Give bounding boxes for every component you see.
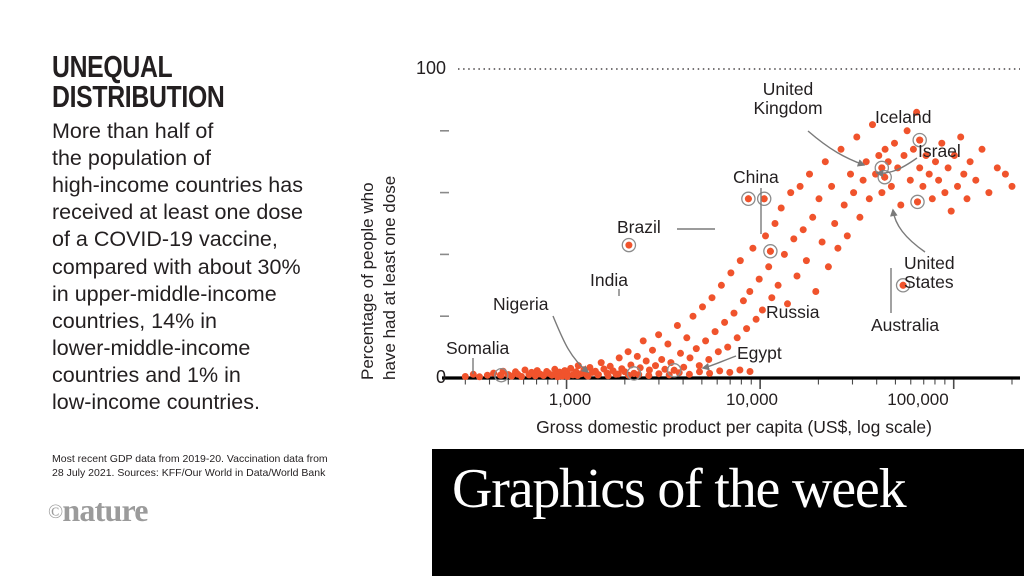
data-point bbox=[605, 372, 612, 379]
highlighted-point bbox=[881, 174, 888, 181]
data-point bbox=[753, 316, 760, 323]
data-point bbox=[716, 367, 723, 374]
banner-title: Graphics of the week bbox=[452, 457, 905, 521]
data-point bbox=[929, 195, 936, 202]
data-point bbox=[484, 372, 491, 379]
data-point bbox=[926, 171, 933, 178]
nature-wordmark: nature bbox=[62, 492, 147, 528]
data-point bbox=[655, 331, 662, 338]
y-tick-label-100: 100 bbox=[390, 58, 446, 79]
annotation-russia: Russia bbox=[766, 303, 856, 322]
highlighted-point bbox=[498, 372, 505, 379]
data-point bbox=[844, 232, 851, 239]
data-point bbox=[834, 245, 841, 252]
data-point bbox=[762, 232, 769, 239]
data-point bbox=[658, 356, 665, 363]
annotation-iceland: Iceland bbox=[875, 108, 975, 127]
data-point bbox=[803, 257, 810, 264]
data-point bbox=[812, 288, 819, 295]
data-point bbox=[726, 369, 733, 376]
y-axis-label-line2: have had at least one dose bbox=[380, 176, 400, 380]
highlighted-point bbox=[767, 248, 774, 255]
infographic-root: Unequal distribution More than half of t… bbox=[0, 0, 1024, 576]
data-point bbox=[901, 152, 908, 159]
x-axis-label: Gross domestic product per capita (US$, … bbox=[444, 417, 1024, 438]
annotation-israel: Israel bbox=[918, 142, 1018, 161]
data-point bbox=[625, 348, 632, 355]
source-note: Most recent GDP data from 2019-20. Vacci… bbox=[52, 453, 372, 481]
y-axis-label-line1: Percentage of people who bbox=[358, 182, 378, 380]
data-point bbox=[674, 322, 681, 329]
data-point bbox=[825, 263, 832, 270]
data-point bbox=[954, 183, 961, 190]
data-point bbox=[904, 127, 911, 134]
data-point bbox=[598, 359, 605, 366]
data-point bbox=[919, 183, 926, 190]
data-point bbox=[649, 347, 656, 354]
data-point bbox=[994, 164, 1001, 171]
data-point bbox=[778, 205, 785, 212]
annotation-brazil: Brazil bbox=[617, 218, 697, 237]
data-point bbox=[888, 183, 895, 190]
data-point bbox=[916, 164, 923, 171]
data-point bbox=[476, 373, 483, 380]
data-point bbox=[866, 195, 873, 202]
data-point bbox=[756, 276, 763, 283]
data-point bbox=[787, 189, 794, 196]
data-point bbox=[696, 368, 703, 375]
data-point bbox=[615, 371, 622, 378]
data-point bbox=[885, 158, 892, 165]
data-point bbox=[800, 226, 807, 233]
data-point bbox=[743, 325, 750, 332]
data-point bbox=[878, 189, 885, 196]
data-point bbox=[693, 345, 700, 352]
data-point bbox=[781, 251, 788, 258]
standfirst-text: More than half of the population of high… bbox=[52, 118, 392, 416]
data-point bbox=[875, 152, 882, 159]
data-point bbox=[574, 372, 581, 379]
highlighted-point bbox=[761, 195, 768, 202]
data-point bbox=[554, 373, 561, 380]
data-point bbox=[462, 373, 469, 380]
data-point bbox=[736, 367, 743, 374]
data-point bbox=[664, 341, 671, 348]
data-point bbox=[640, 337, 647, 344]
data-point bbox=[709, 294, 716, 301]
data-point bbox=[809, 214, 816, 221]
data-point bbox=[897, 202, 904, 209]
data-point bbox=[724, 344, 731, 351]
annotation-china: China bbox=[733, 168, 823, 187]
data-point bbox=[891, 140, 898, 147]
data-point bbox=[790, 235, 797, 242]
data-point bbox=[721, 319, 728, 326]
annotation-india: India bbox=[590, 271, 660, 290]
data-point bbox=[816, 195, 823, 202]
leader-line bbox=[893, 210, 925, 252]
data-point bbox=[749, 245, 756, 252]
copyright-symbol: © bbox=[48, 501, 62, 523]
highlighted-point bbox=[625, 242, 632, 249]
data-point bbox=[794, 273, 801, 280]
data-point bbox=[768, 294, 775, 301]
data-point bbox=[690, 313, 697, 320]
data-point bbox=[941, 189, 948, 196]
x-tick-label-10000: 10,000 bbox=[688, 390, 816, 410]
data-point bbox=[841, 202, 848, 209]
annotation-united-kingdom: United Kingdom bbox=[733, 80, 843, 117]
data-point bbox=[585, 373, 592, 380]
data-point bbox=[718, 282, 725, 289]
annotation-nigeria: Nigeria bbox=[493, 295, 583, 314]
data-point bbox=[643, 358, 650, 365]
y-tick-label-0: 0 bbox=[390, 367, 446, 388]
data-point bbox=[686, 371, 693, 378]
data-point bbox=[731, 310, 738, 317]
data-point bbox=[828, 183, 835, 190]
data-point bbox=[935, 177, 942, 184]
data-point bbox=[957, 134, 964, 141]
data-point bbox=[705, 356, 712, 363]
data-point bbox=[1002, 171, 1009, 178]
data-point bbox=[882, 146, 889, 153]
x-tick-label-1000: 1,000 bbox=[510, 390, 630, 410]
data-point bbox=[759, 307, 766, 314]
data-point bbox=[856, 214, 863, 221]
data-point bbox=[683, 334, 690, 341]
data-point bbox=[838, 146, 845, 153]
graphics-of-the-week-banner: Graphics of the week bbox=[432, 449, 1024, 576]
data-point bbox=[696, 362, 703, 369]
data-point bbox=[655, 370, 662, 377]
data-point bbox=[737, 257, 744, 264]
highlighted-point bbox=[914, 198, 921, 205]
data-point bbox=[702, 337, 709, 344]
data-point bbox=[727, 269, 734, 276]
highlighted-point bbox=[671, 367, 678, 374]
left-text-panel: Unequal distribution More than half of t… bbox=[52, 52, 392, 416]
data-point bbox=[850, 189, 857, 196]
data-point bbox=[847, 171, 854, 178]
data-point bbox=[518, 373, 525, 380]
data-point bbox=[564, 373, 571, 380]
annotation-egypt: Egypt bbox=[737, 344, 817, 363]
data-point bbox=[945, 164, 952, 171]
data-point bbox=[706, 370, 713, 377]
scatter-plot-canvas bbox=[404, 40, 1024, 440]
annotation-somalia: Somalia bbox=[446, 339, 556, 358]
data-point bbox=[964, 195, 971, 202]
highlighted-point bbox=[631, 370, 638, 377]
data-point bbox=[860, 177, 867, 184]
data-point bbox=[948, 208, 955, 215]
data-point bbox=[831, 220, 838, 227]
annotation-australia: Australia bbox=[871, 316, 991, 335]
data-point bbox=[747, 368, 754, 375]
data-point bbox=[853, 134, 860, 141]
data-point bbox=[775, 282, 782, 289]
leader-line bbox=[553, 316, 588, 372]
data-point bbox=[746, 288, 753, 295]
data-point bbox=[712, 328, 719, 335]
data-point bbox=[699, 303, 706, 310]
data-point bbox=[715, 348, 722, 355]
data-point bbox=[863, 158, 870, 165]
data-point bbox=[634, 353, 641, 360]
nature-logo: ©nature bbox=[48, 492, 148, 529]
annotation-united-states: United States bbox=[904, 254, 1014, 291]
data-point bbox=[985, 189, 992, 196]
x-tick-label-100000: 100,000 bbox=[848, 390, 988, 410]
data-point bbox=[972, 177, 979, 184]
data-point bbox=[960, 171, 967, 178]
data-point bbox=[740, 297, 747, 304]
data-point bbox=[822, 158, 829, 165]
scatter-chart bbox=[404, 40, 1024, 440]
data-point bbox=[734, 334, 741, 341]
data-point bbox=[910, 146, 917, 153]
data-point bbox=[645, 372, 652, 379]
data-point bbox=[1009, 183, 1016, 190]
page-title: Unequal distribution bbox=[52, 52, 324, 112]
highlighted-point bbox=[745, 195, 752, 202]
data-point bbox=[616, 354, 623, 361]
data-point bbox=[677, 350, 684, 357]
data-point bbox=[594, 371, 601, 378]
data-point bbox=[687, 354, 694, 361]
data-point bbox=[772, 220, 779, 227]
data-point bbox=[819, 239, 826, 246]
data-point bbox=[652, 362, 659, 369]
data-point bbox=[765, 263, 772, 270]
data-point bbox=[907, 177, 914, 184]
